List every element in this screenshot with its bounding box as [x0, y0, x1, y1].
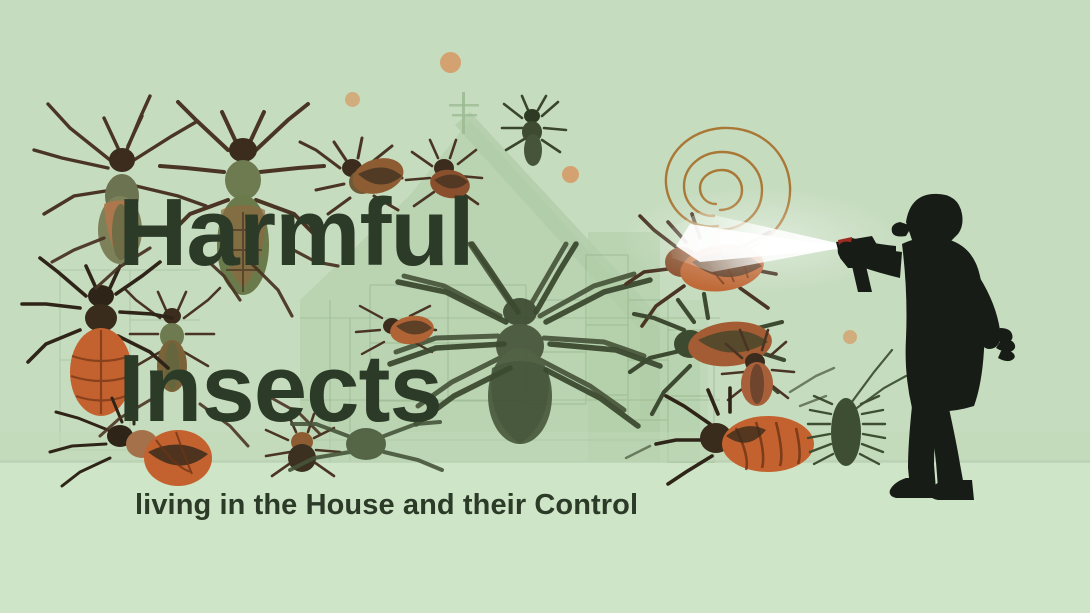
presentation-slide: Harmful Insects	[0, 0, 1090, 613]
exterminator-silhouette	[0, 0, 1090, 613]
